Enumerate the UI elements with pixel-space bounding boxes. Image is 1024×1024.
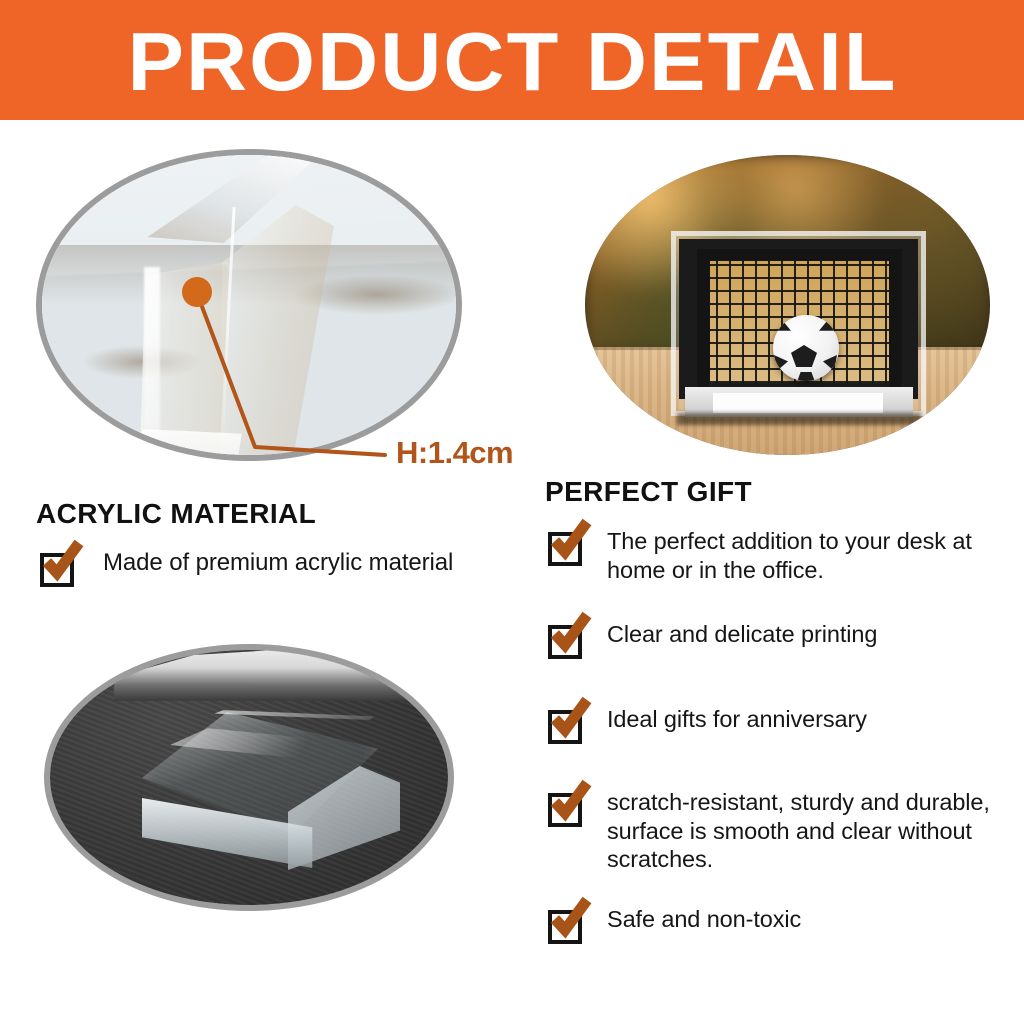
- goal-scene: [585, 155, 990, 455]
- checkbox-checked[interactable]: [548, 527, 589, 568]
- list-item-label: Made of premium acrylic material: [103, 548, 453, 577]
- product-shadow: [677, 413, 921, 425]
- soccer-ball: [773, 315, 839, 381]
- list-item-label: Ideal gifts for anniversary: [607, 705, 867, 734]
- slab-highlight: [144, 267, 160, 455]
- list-item: scratch-resistant, sturdy and durable, s…: [548, 788, 1010, 874]
- acrylic-edge-on-wood-photo: [42, 155, 456, 455]
- list-item-label: Safe and non-toxic: [607, 905, 801, 934]
- list-item: The perfect addition to your desk at hom…: [548, 527, 1010, 584]
- block-top-edge-highlight: [146, 710, 374, 720]
- check-icon: [547, 697, 593, 743]
- list-item-label: Clear and delicate printing: [607, 620, 877, 649]
- goal-crossbar: [697, 249, 902, 261]
- list-item: Made of premium acrylic material: [40, 548, 520, 589]
- list-item: Safe and non-toxic: [548, 905, 1010, 946]
- ball-center-pentagon: [791, 345, 817, 367]
- check-icon: [547, 780, 593, 826]
- check-icon: [39, 540, 85, 586]
- list-item-label: The perfect addition to your desk at hom…: [607, 527, 1010, 584]
- wood-scene: [42, 155, 456, 455]
- slate-surface: [50, 650, 448, 905]
- checkbox-checked[interactable]: [548, 620, 589, 661]
- acrylic-slab: [130, 155, 380, 455]
- soccer-goal-product-photo: [585, 155, 990, 455]
- product-detail-page: PRODUCT DETAIL H:1.4cm: [0, 0, 1024, 1024]
- check-icon: [547, 519, 593, 565]
- section-title-perfect-gift: PERFECT GIFT: [545, 476, 752, 508]
- section-title-acrylic-material: ACRYLIC MATERIAL: [36, 498, 316, 530]
- checkbox-checked[interactable]: [548, 905, 589, 946]
- goal-post-right: [889, 251, 902, 387]
- acrylic-base-inner: [713, 393, 883, 413]
- ball-patch: [797, 372, 815, 381]
- checkbox-checked[interactable]: [548, 705, 589, 746]
- page-title: PRODUCT DETAIL: [127, 20, 897, 103]
- header-banner: PRODUCT DETAIL: [0, 0, 1024, 120]
- check-icon: [547, 612, 593, 658]
- acrylic-block-on-slate-photo: [50, 650, 448, 905]
- slate-back-edge: [114, 650, 448, 701]
- list-item-label: scratch-resistant, sturdy and durable, s…: [607, 788, 1010, 874]
- checkbox-checked[interactable]: [548, 788, 589, 829]
- list-item: Ideal gifts for anniversary: [548, 705, 1010, 746]
- dimension-label: H:1.4cm: [396, 435, 513, 471]
- slab-side-face: [222, 205, 334, 455]
- checkbox-checked[interactable]: [40, 548, 81, 589]
- list-item: Clear and delicate printing: [548, 620, 1010, 661]
- goal-post-left: [697, 251, 710, 387]
- check-icon: [547, 897, 593, 943]
